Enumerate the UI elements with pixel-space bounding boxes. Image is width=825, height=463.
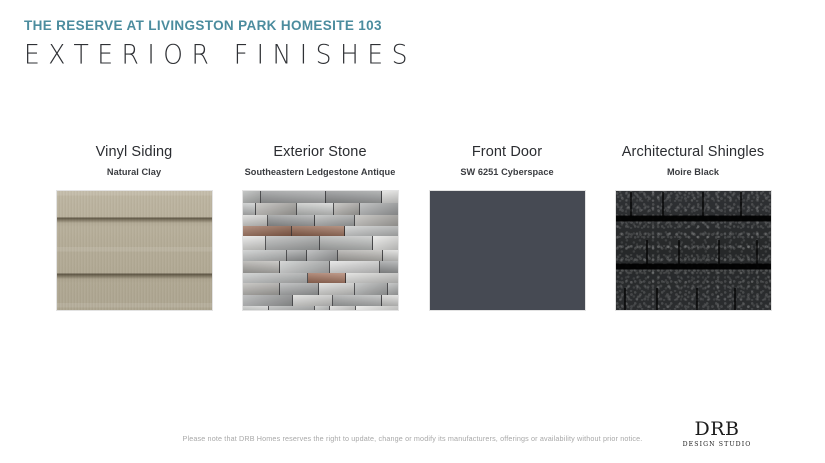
stone-piece xyxy=(261,190,327,204)
stone-course xyxy=(242,190,399,204)
finish-card-vinyl-siding: Vinyl Siding Natural Clay xyxy=(41,144,227,311)
shingle-tab-notch xyxy=(702,192,704,216)
stone-piece xyxy=(330,306,355,311)
community-title: THE RESERVE AT LIVINGSTON PARK HOMESITE … xyxy=(24,18,416,33)
finish-card-front-door: Front Door SW 6251 Cyberspace xyxy=(414,144,600,311)
stone-piece xyxy=(269,306,316,311)
shingle-tab-notch xyxy=(740,192,742,216)
page-title: EXTERIOR FINISHES xyxy=(24,39,416,70)
finish-spec: Natural Clay xyxy=(41,167,227,177)
stone-piece xyxy=(382,190,398,204)
page-header: THE RESERVE AT LIVINGSTON PARK HOMESITE … xyxy=(24,18,416,68)
swatch-vinyl-siding xyxy=(56,190,213,311)
stone-piece xyxy=(356,306,399,311)
shingle-tab-notch xyxy=(624,288,626,311)
stone-piece xyxy=(242,190,261,204)
shingle-tab-notch xyxy=(718,240,720,264)
brand-mark: DRB xyxy=(681,420,753,439)
stone-piece xyxy=(315,306,330,311)
stone-piece xyxy=(373,236,398,251)
shingle-tab-notch xyxy=(630,192,632,216)
finish-name: Front Door xyxy=(414,144,600,160)
shingle-tab-notch xyxy=(646,240,648,264)
swatch-architectural-shingles xyxy=(615,190,772,311)
shingle-tab-notch xyxy=(696,288,698,311)
swatch-exterior-stone xyxy=(242,190,399,311)
shingle-tab-notch xyxy=(656,288,658,311)
brand-sub: DESIGN STUDIO xyxy=(681,442,753,448)
finish-grid: Vinyl Siding Natural Clay Exterior Stone… xyxy=(0,144,825,311)
stone-course xyxy=(242,306,399,311)
finish-card-exterior-stone: Exterior Stone Southeastern Ledgestone A… xyxy=(227,144,413,311)
stone-piece xyxy=(242,236,267,251)
finish-spec: Moire Black xyxy=(600,167,786,177)
finish-card-architectural-shingles: Architectural Shingles Moire Black xyxy=(600,144,786,311)
stone-piece xyxy=(320,236,373,251)
finish-name: Vinyl Siding xyxy=(41,144,227,160)
shingle-tab-notch xyxy=(734,288,736,311)
finish-spec: Southeastern Ledgestone Antique xyxy=(227,167,413,177)
stone-piece xyxy=(242,306,269,311)
finish-name: Architectural Shingles xyxy=(600,144,786,160)
finish-spec: SW 6251 Cyberspace xyxy=(414,167,600,177)
shingle-tab-notch xyxy=(662,192,664,216)
finish-name: Exterior Stone xyxy=(227,144,413,160)
shingle-tab-notch xyxy=(678,240,680,264)
drb-design-studio-logo: DRB DESIGN STUDIO xyxy=(681,420,753,448)
shingle-tab-notch xyxy=(756,240,758,264)
stone-piece xyxy=(266,236,320,251)
stone-course xyxy=(242,236,399,251)
swatch-front-door xyxy=(429,190,586,311)
stone-piece xyxy=(326,190,382,204)
